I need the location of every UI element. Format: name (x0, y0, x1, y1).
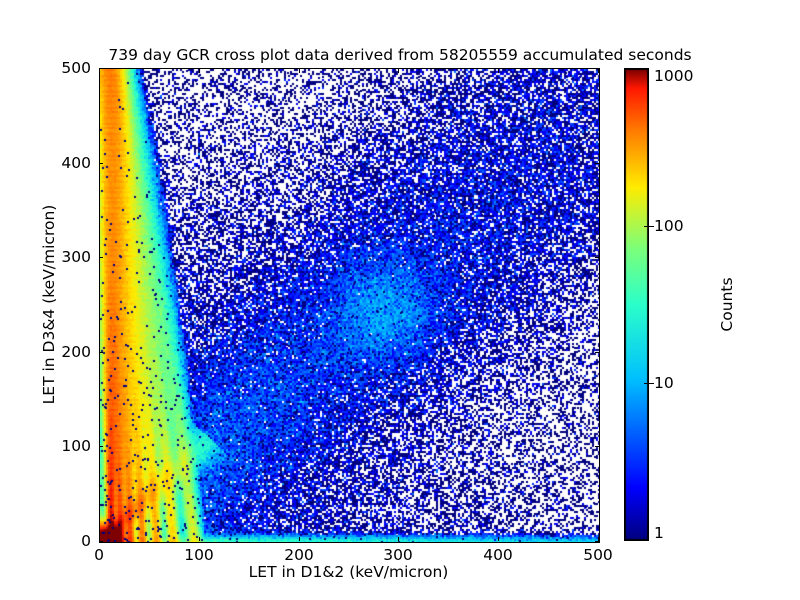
x-tick-mark (299, 537, 300, 541)
y-tick-mark (99, 352, 103, 353)
x-tick-mark-top (199, 69, 200, 73)
x-tick-label: 200 (284, 546, 314, 564)
x-tick-label: 100 (184, 546, 214, 564)
x-tick-label: 0 (94, 546, 104, 564)
x-tick-mark-top (398, 69, 399, 73)
colorbar-gradient (624, 68, 649, 541)
colorbar-title: Counts (718, 68, 736, 541)
colorbar-container (624, 68, 649, 541)
y-tick-mark-right (595, 446, 599, 447)
x-tick-mark-top (99, 69, 100, 73)
y-tick-mark (99, 163, 103, 164)
y-tick-mark (99, 541, 103, 542)
x-tick-label: 300 (383, 546, 413, 564)
y-tick-mark (99, 257, 103, 258)
colorbar-tick-label: 100 (654, 217, 684, 235)
x-tick-mark (498, 537, 499, 541)
x-axis-title: LET in D1&2 (keV/micron) (99, 563, 598, 581)
y-tick-mark-right (595, 257, 599, 258)
figure-canvas: 739 day GCR cross plot data derived from… (0, 0, 800, 600)
colorbar-tick-label: 1000 (654, 67, 693, 85)
y-tick-mark-right (595, 68, 599, 69)
y-tick-mark (99, 446, 103, 447)
density-scatter-plot (100, 69, 599, 542)
x-tick-mark-top (498, 69, 499, 73)
x-tick-mark-top (299, 69, 300, 73)
y-tick-mark-right (595, 352, 599, 353)
x-tick-mark-top (598, 69, 599, 73)
colorbar-tick-mark-inner (644, 383, 649, 384)
colorbar-tick-mark-inner (644, 226, 649, 227)
y-axis-title: LET in D3&4 (keV/micron) (40, 68, 58, 541)
chart-title-line-1: 739 day GCR cross plot data derived from… (0, 46, 800, 65)
plot-area[interactable] (99, 68, 600, 543)
x-tick-mark (199, 537, 200, 541)
colorbar-tick-label: 1 (654, 524, 664, 542)
x-tick-label: 500 (583, 546, 613, 564)
y-tick-mark (99, 68, 103, 69)
x-tick-label: 400 (483, 546, 513, 564)
x-tick-mark (398, 537, 399, 541)
colorbar-tick-label: 10 (654, 374, 674, 392)
y-tick-mark-right (595, 163, 599, 164)
y-tick-mark-right (595, 541, 599, 542)
